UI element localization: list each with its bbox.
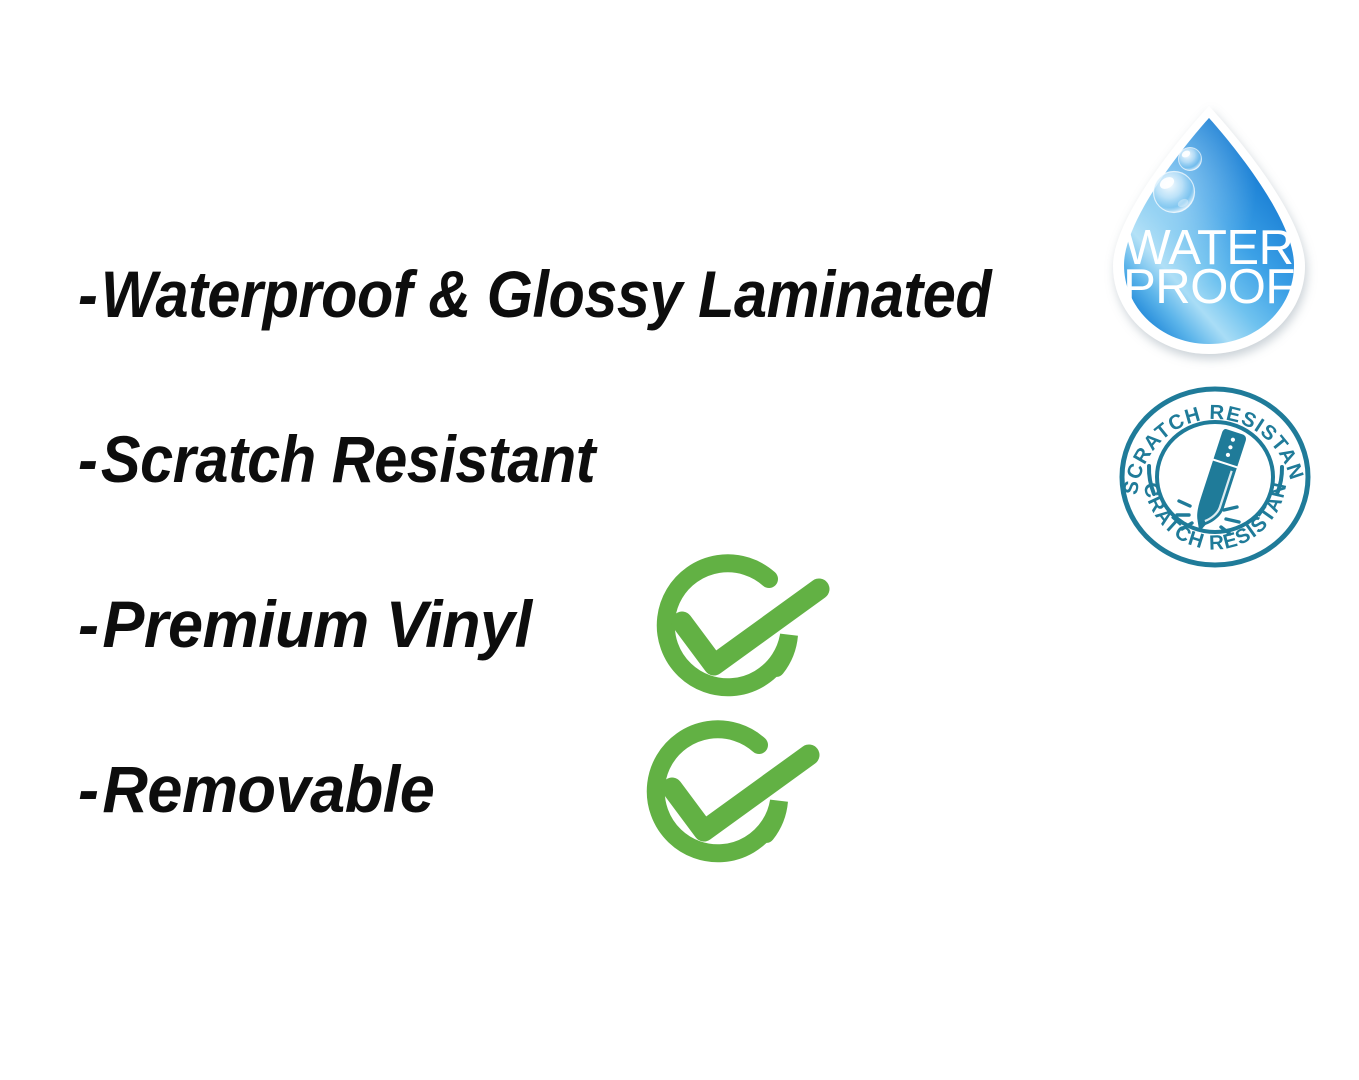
waterproof-droplet-badge: WATER PROOF (1105, 104, 1313, 356)
bullet-dash: - (78, 423, 97, 495)
check-removable (626, 722, 826, 878)
feature-item-removable: -Removable (78, 753, 434, 825)
feature-label: Removable (102, 753, 434, 825)
feature-item-scratch-resistant: -Scratch Resistant (78, 423, 595, 495)
check-circle-icon (636, 556, 836, 712)
water-bubble-large-icon (1154, 172, 1195, 213)
bullet-dash: - (78, 588, 99, 660)
feature-item-premium-vinyl: -Premium Vinyl (78, 588, 532, 660)
scratch-resistant-stamp-badge: SCRATCH RESISTANT SCRATCH RESISTANT (1116, 382, 1314, 572)
water-bubble-small-icon (1179, 148, 1202, 171)
check-premium-vinyl (636, 556, 836, 712)
poster-canvas: -Waterproof & Glossy Laminated -Scratch … (0, 0, 1359, 1080)
check-circle-icon (626, 722, 826, 878)
feature-label: Premium Vinyl (102, 588, 531, 660)
waterproof-line2-text: PROOF (1123, 260, 1295, 314)
scratch-resistant-stamp-icon: SCRATCH RESISTANT SCRATCH RESISTANT (1116, 382, 1314, 572)
bullet-dash: - (78, 753, 99, 825)
check-tick (682, 589, 819, 665)
feature-item-waterproof-glossy-laminated: -Waterproof & Glossy Laminated (78, 258, 991, 330)
check-tick (672, 755, 809, 831)
bullet-dash: - (78, 258, 97, 330)
waterproof-droplet-icon: WATER PROOF (1105, 104, 1313, 356)
feature-label: Scratch Resistant (101, 423, 595, 495)
feature-label: Waterproof & Glossy Laminated (101, 258, 991, 330)
